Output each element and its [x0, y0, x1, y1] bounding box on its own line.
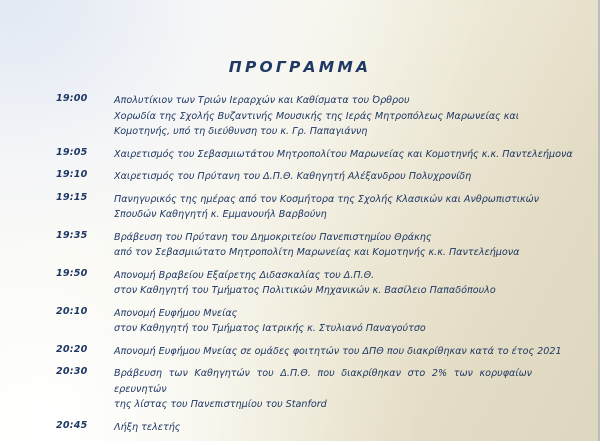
program-row-line: Χαιρετισμός του Πρύτανη του Δ.Π.Θ. Καθηγ…: [114, 169, 534, 185]
program-row-line: Βράβευση των Καθηγητών του Δ.Π.Θ. που δι…: [114, 366, 532, 397]
program-row: 19:00Απολυτίκιον των Τριών Ιεραρχών και …: [0, 93, 600, 140]
program-row: 20:10Απονομή Ευφήμου Μνείαςστον Καθηγητή…: [0, 306, 600, 337]
program-row-line: Χορωδία της Σχολής Βυζαντινής Μουσικής τ…: [114, 109, 534, 125]
program-row-time: 19:00: [56, 93, 108, 104]
program-row: 19:10Χαιρετισμός του Πρύτανη του Δ.Π.Θ. …: [0, 169, 600, 185]
program-row-description: Βράβευση των Καθηγητών του Δ.Π.Θ. που δι…: [114, 366, 534, 413]
program-row-line: στον Καθηγητή του Τμήματος Πολιτικών Μηχ…: [114, 283, 534, 299]
program-row-line: στον Καθηγητή του Τμήματος Ιατρικής κ. Σ…: [114, 321, 534, 337]
program-row-time: 20:45: [56, 420, 108, 431]
program-row: 20:20Απονομή Ευφήμου Μνείας σε ομάδες φο…: [0, 344, 600, 360]
program-row: 19:35Βράβευση του Πρύτανη του Δημοκριτεί…: [0, 230, 600, 261]
program-row-time: 19:15: [56, 192, 108, 203]
program-row-time: 19:50: [56, 268, 108, 279]
program-row-description: Χαιρετισμός του Πρύτανη του Δ.Π.Θ. Καθηγ…: [114, 169, 534, 185]
program-row-line: Κομοτηνής, υπό τη διεύθυνση του κ. Γρ. Π…: [114, 124, 534, 140]
program-row-line: Απονομή Ευφήμου Μνείας: [114, 306, 534, 322]
program-row-description: Απονομή Βραβείου Εξαίρετης Διδασκαλίας τ…: [114, 268, 534, 299]
program-row-line: Βράβευση του Πρύτανη του Δημοκριτείου Πα…: [114, 230, 534, 246]
program-row-line: Χαιρετισμός του Σεβασμιωτάτου Μητροπολίτ…: [114, 147, 534, 163]
program-row-time: 20:10: [56, 306, 108, 317]
program-row-time: 20:20: [56, 344, 108, 355]
program-row-line: από τον Σεβασμιώτατο Μητροπολίτη Μαρωνεί…: [114, 245, 534, 261]
program-row-time: 20:30: [56, 366, 108, 377]
program-row-description: Απονομή Ευφήμου Μνείαςστον Καθηγητή του …: [114, 306, 534, 337]
program-row-time: 19:35: [56, 230, 108, 241]
program-row: 19:50Απονομή Βραβείου Εξαίρετης Διδασκαλ…: [0, 268, 600, 299]
program-row-line: Λήξη τελετής: [114, 420, 534, 436]
program-row-description: Απονομή Ευφήμου Μνείας σε ομάδες φοιτητώ…: [114, 344, 534, 360]
program-row-description: Πανηγυρικός της ημέρας από τον Κοσμήτορα…: [114, 192, 534, 223]
program-row-line: Σπουδών Καθηγητή κ. Εμμανουήλ Βαρβούνη: [114, 207, 534, 223]
program-row-time: 19:10: [56, 169, 108, 180]
program-row-line: Πανηγυρικός της ημέρας από τον Κοσμήτορα…: [114, 192, 534, 208]
program-row: 20:30Βράβευση των Καθηγητών του Δ.Π.Θ. π…: [0, 366, 600, 413]
program-row-line: Απονομή Ευφήμου Μνείας σε ομάδες φοιτητώ…: [114, 344, 534, 360]
program-row-description: Χαιρετισμός του Σεβασμιωτάτου Μητροπολίτ…: [114, 147, 534, 163]
program-row-description: Βράβευση του Πρύτανη του Δημοκριτείου Πα…: [114, 230, 534, 261]
program-row: 19:15Πανηγυρικός της ημέρας από τον Κοσμ…: [0, 192, 600, 223]
program-row-description: Λήξη τελετής: [114, 420, 534, 436]
program-row: 20:45Λήξη τελετής: [0, 420, 600, 436]
program-row-time: 19:05: [56, 147, 108, 158]
program-row: 19:05Χαιρετισμός του Σεβασμιωτάτου Μητρο…: [0, 147, 600, 163]
program-row-line: Απολυτίκιον των Τριών Ιεραρχών και Καθίσ…: [114, 93, 534, 109]
page-title: ΠΡΟΓΡΑΜΜΑ: [0, 58, 600, 76]
program-row-line: Απονομή Βραβείου Εξαίρετης Διδασκαλίας τ…: [114, 268, 534, 284]
program-list: 19:00Απολυτίκιον των Τριών Ιεραρχών και …: [0, 93, 600, 441]
program-row-description: Απολυτίκιον των Τριών Ιεραρχών και Καθίσ…: [114, 93, 534, 140]
presentation-slide: ΠΡΟΓΡΑΜΜΑ 19:00Απολυτίκιον των Τριών Ιερ…: [0, 0, 600, 441]
program-row-line: της λίστας του Πανεπιστημίου του Stanfor…: [114, 397, 534, 413]
